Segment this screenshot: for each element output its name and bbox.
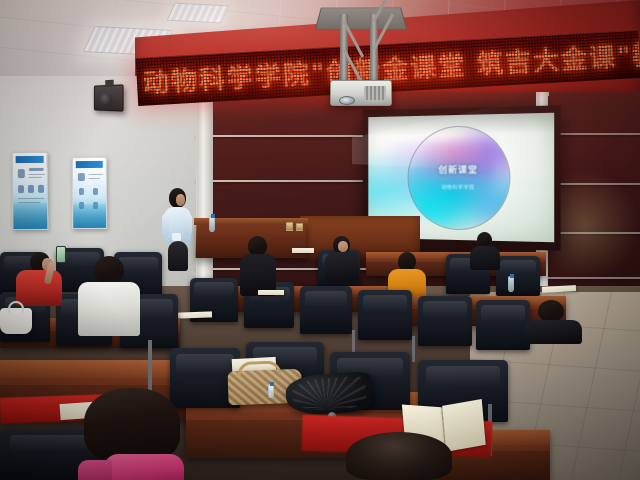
chair xyxy=(476,300,530,350)
attendee-hair xyxy=(84,388,180,462)
attendee-head xyxy=(94,256,124,284)
attendee-shoulder xyxy=(78,460,112,480)
attendee-head xyxy=(538,300,564,322)
attendee-face xyxy=(338,241,348,252)
presenter-arm-right xyxy=(184,214,192,236)
wall-poster-right xyxy=(72,157,108,229)
papers-on-desk xyxy=(178,311,212,318)
poster-figure-icon xyxy=(78,173,85,181)
poster-figure-icon xyxy=(18,185,24,193)
drinking-glass xyxy=(296,223,303,231)
poster-text-block xyxy=(29,168,44,171)
presenter-held-paper xyxy=(172,233,181,241)
person-attendee-white-tee xyxy=(78,256,140,336)
wall-poster-left xyxy=(12,152,49,230)
bottle-cap xyxy=(211,214,215,218)
attendee-head xyxy=(346,432,452,480)
poster-text-line xyxy=(89,178,100,179)
person-attendee-pink xyxy=(78,388,190,480)
speaker-bracket xyxy=(105,80,113,87)
chair xyxy=(418,296,472,346)
handbag-handle xyxy=(8,301,24,313)
water-bottle xyxy=(268,384,274,398)
poster-text-line xyxy=(18,198,44,199)
attendee-torso xyxy=(16,270,62,306)
projector-vent xyxy=(364,86,386,100)
poster-text-line xyxy=(29,174,45,175)
poster-wave-graphic xyxy=(13,203,47,229)
water-bottle xyxy=(209,216,215,232)
chair xyxy=(300,286,352,334)
umbrella-ribs xyxy=(291,375,367,412)
presenter-face xyxy=(176,194,185,206)
person-attendee-back-right xyxy=(470,232,500,268)
presenter-legs xyxy=(168,241,188,271)
person-presenter xyxy=(160,188,194,270)
slide-circular-graphic: 创新课堂 动物科学学院 xyxy=(408,124,511,230)
attendee-torso xyxy=(524,320,582,344)
lecture-hall-photo: 动物科学学院"创新金课堂 筑吉大金课"教 创新课堂 动物科学学院 xyxy=(0,0,640,480)
chair-leg xyxy=(412,336,415,362)
poster-figure-icon xyxy=(18,169,25,178)
chair xyxy=(496,256,540,296)
attendee-torso xyxy=(104,454,184,480)
papers-on-desk xyxy=(292,248,314,253)
bottle-cap xyxy=(510,274,514,278)
poster-figure-icon xyxy=(38,185,44,193)
poster-header-bar xyxy=(16,156,44,163)
water-bottle xyxy=(508,276,514,292)
person-attendee-foreground-right xyxy=(346,432,452,480)
handbag-white xyxy=(0,308,32,334)
poster-figure-icon xyxy=(28,185,34,193)
slide-subtitle-text: 动物科学学院 xyxy=(442,184,475,191)
papers-on-desk xyxy=(258,290,284,295)
poster-figure-icon xyxy=(93,188,98,195)
loudspeaker-icon xyxy=(94,84,124,111)
drinking-glass xyxy=(286,222,293,231)
projector-lens xyxy=(339,96,355,105)
bottle-cap xyxy=(270,382,274,386)
poster-text-line xyxy=(89,174,103,175)
presenter-arm-left xyxy=(162,214,169,238)
person-attendee-dark-2 xyxy=(240,236,276,296)
poster-wave-graphic xyxy=(73,204,106,228)
person-attendee-right-edge xyxy=(524,300,582,340)
attendee-head xyxy=(248,236,267,256)
attendee-torso xyxy=(470,246,500,270)
projector-scissor-lift xyxy=(344,18,378,86)
slide-title-text: 创新课堂 xyxy=(438,163,478,176)
poster-header-bar xyxy=(76,161,103,168)
poster-text-line xyxy=(29,177,42,178)
handbag-handle xyxy=(237,360,281,376)
person-attendee-phone xyxy=(16,248,62,306)
ceiling-light-panel-2 xyxy=(167,3,230,24)
projector-icon xyxy=(330,80,392,106)
chair xyxy=(358,290,412,340)
attendee-torso xyxy=(78,282,140,336)
attendee-torso xyxy=(325,252,359,282)
wall-pilaster-left xyxy=(196,92,213,288)
speaker-cone xyxy=(100,93,112,106)
person-attendee-dark-1 xyxy=(325,236,359,282)
right-wall-reflection xyxy=(548,170,640,280)
smartphone-icon xyxy=(56,246,66,263)
wall-trim-line xyxy=(548,133,640,135)
poster-figure-icon xyxy=(79,188,84,195)
